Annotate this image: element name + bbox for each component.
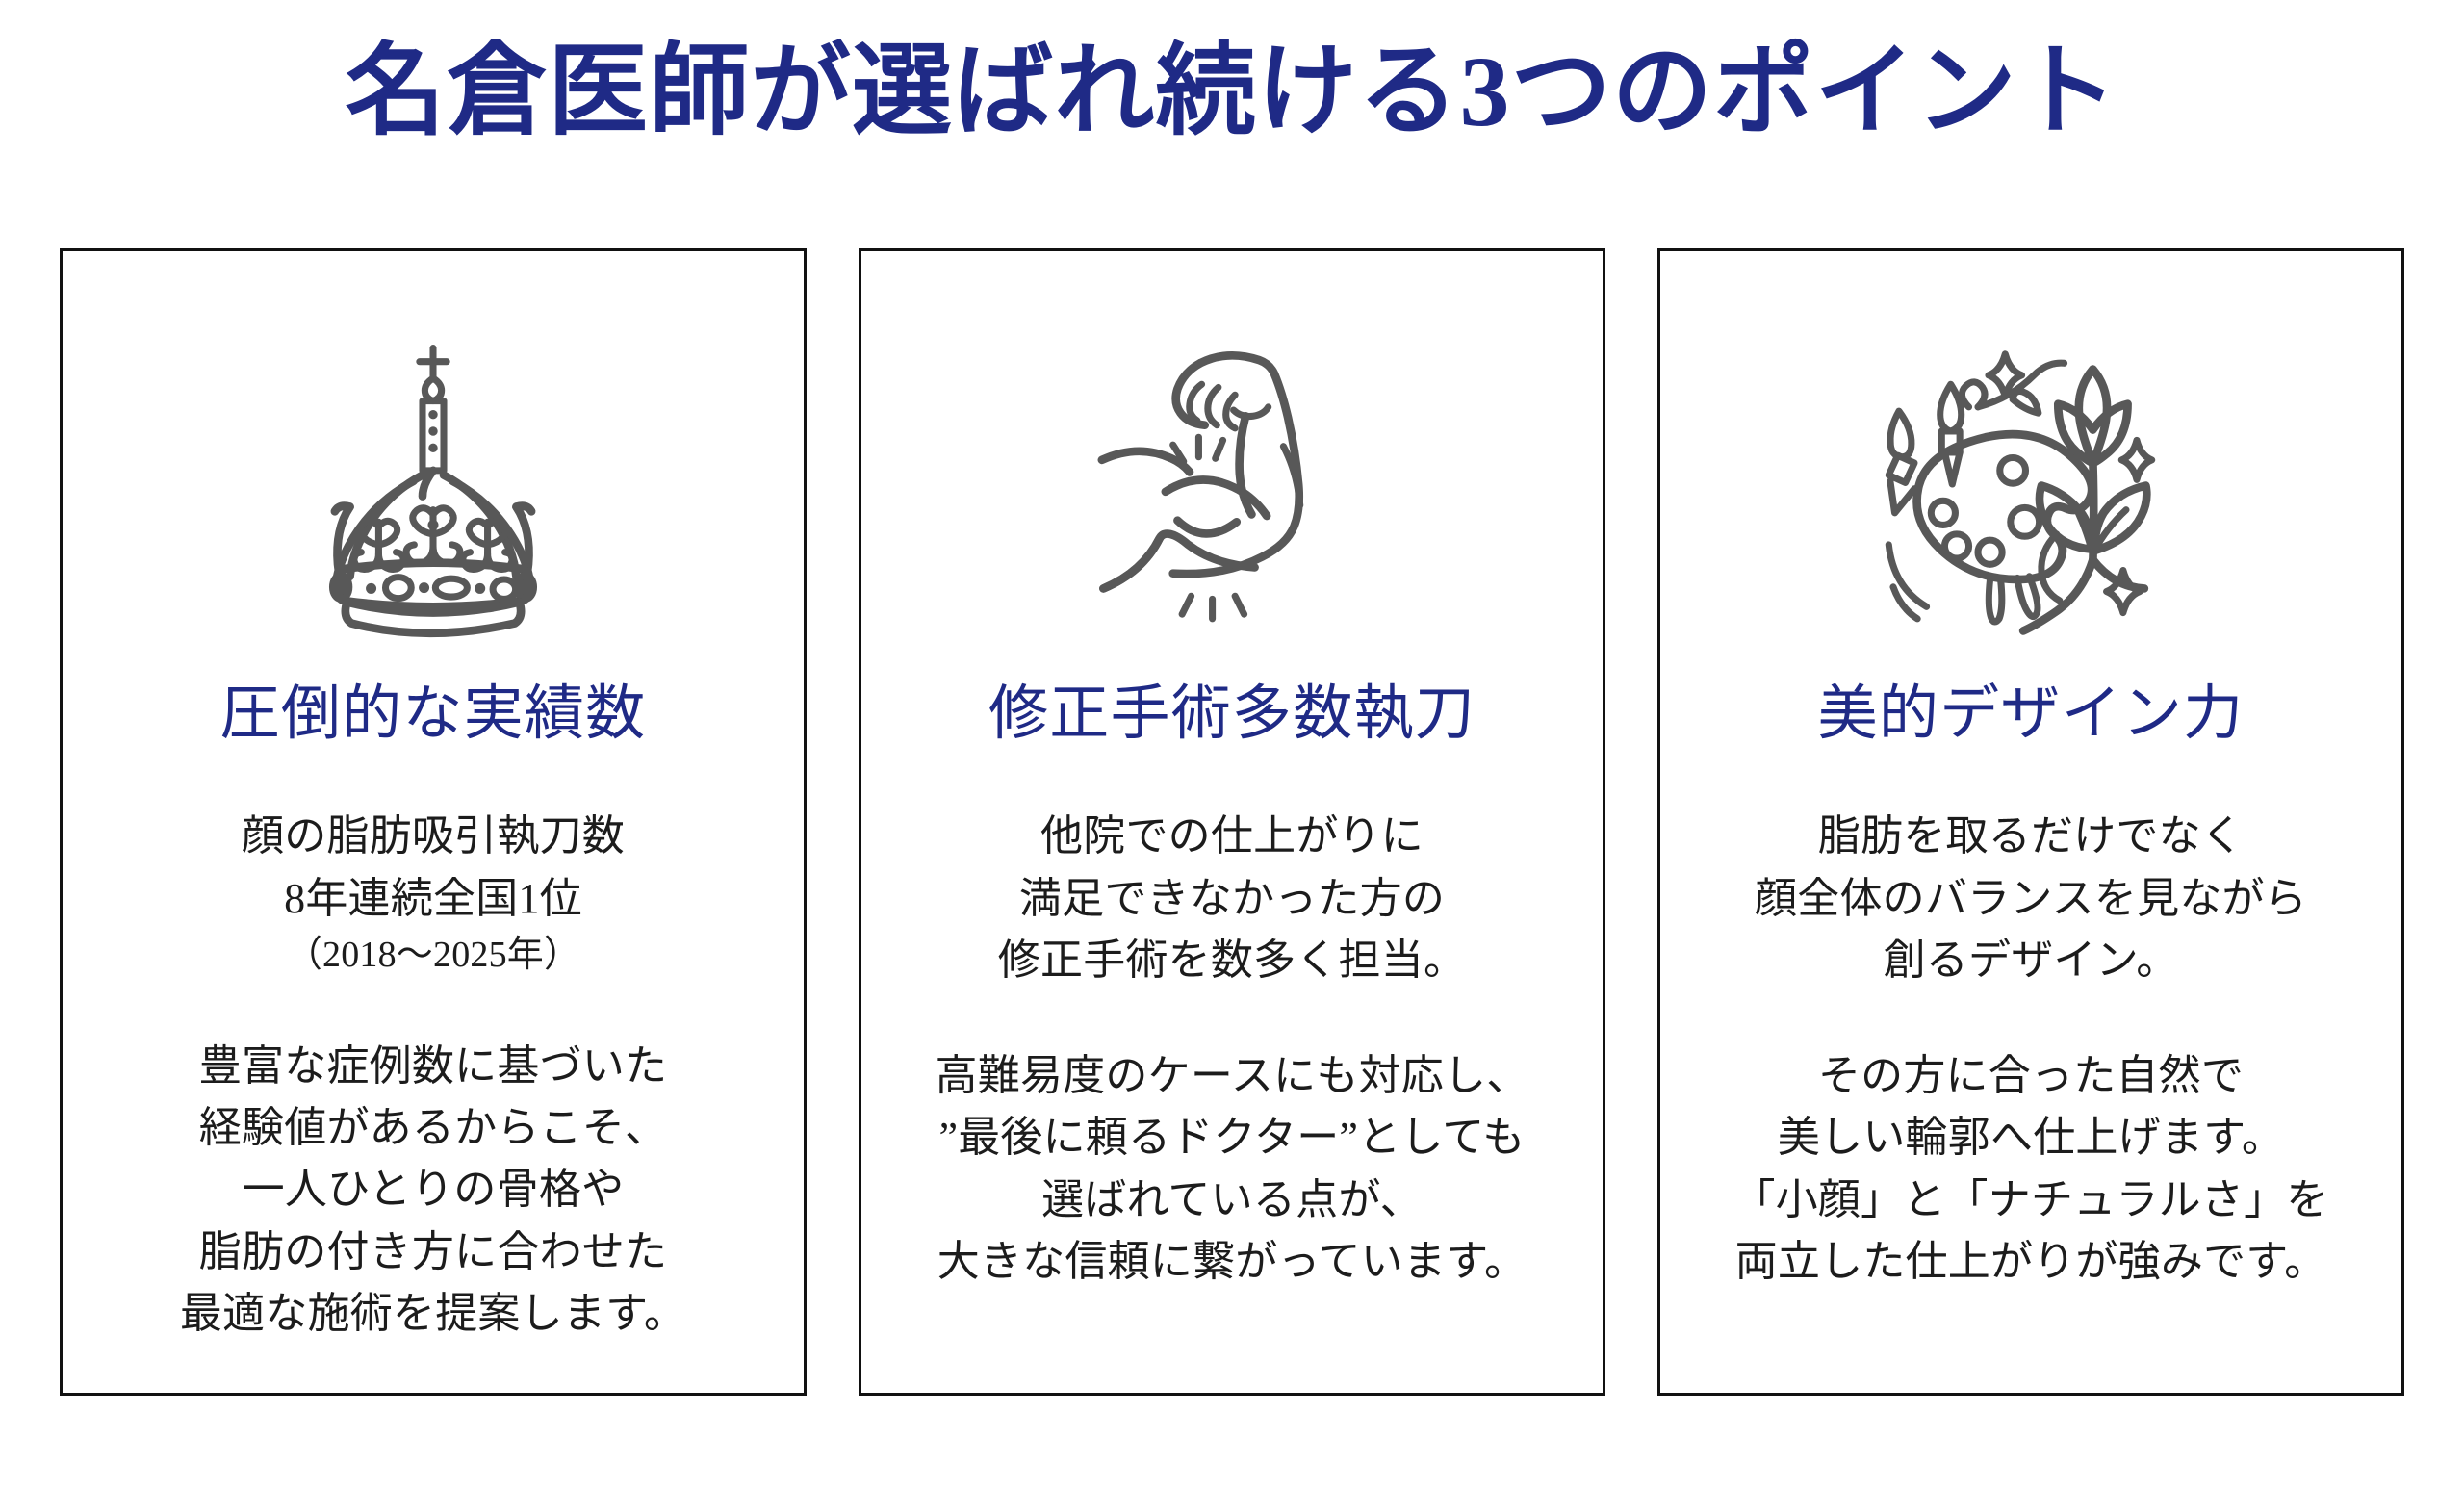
- card-detail-1: 豊富な症例数に基づいた 経験値があるからこそ、 一人ひとりの骨格や 脂肪の付き方…: [180, 1036, 686, 1345]
- infographic-page: 名倉医師が選ばれ続ける3つのポイント: [0, 0, 2464, 1490]
- card-heading-2: 修正手術多数執刀: [988, 679, 1476, 750]
- card-lead-1: 顔の脂肪吸引執刀数 8年連続全国1位: [242, 806, 625, 929]
- card-heading-3: 美的デザイン力: [1818, 679, 2245, 750]
- card-detail-3: その方に合った自然で 美しい輪郭へ仕上げます。 「小顔」と「ナチュラルさ」を 両…: [1732, 1045, 2328, 1293]
- point-card-2: 修正手術多数執刀 他院での仕上がりに 満足できなかった方の 修正手術を数多く担当…: [859, 248, 1605, 1396]
- card-note-1: （2018〜2025年）: [286, 930, 580, 982]
- point-card-3: 美的デザイン力 脂肪を取るだけでなく 顔全体のバランスを見ながら 創るデザイン。…: [1657, 248, 2404, 1396]
- points-card-row: 圧倒的な実績数 顔の脂肪吸引執刀数 8年連続全国1位 （2018〜2025年） …: [0, 248, 2464, 1403]
- card-body-1: 顔の脂肪吸引執刀数 8年連続全国1位 （2018〜2025年） 豊富な症例数に基…: [86, 806, 781, 1345]
- point-card-1: 圧倒的な実績数 顔の脂肪吸引執刀数 8年連続全国1位 （2018〜2025年） …: [60, 248, 807, 1396]
- page-title-container: 名倉医師が選ばれ続ける3つのポイント: [0, 0, 2464, 173]
- flexed-biceps-icon-container: [885, 295, 1579, 673]
- card-body-3: 脂肪を取るだけでなく 顔全体のバランスを見ながら 創るデザイン。 その方に合った…: [1683, 806, 2378, 1293]
- crown-icon: [274, 325, 592, 643]
- card-heading-1: 圧倒的な実績数: [220, 679, 647, 750]
- card-body-2: 他院での仕上がりに 満足できなかった方の 修正手術を数多く担当。 高難易度のケー…: [885, 806, 1579, 1293]
- page-title: 名倉医師が選ばれ続ける3つのポイント: [346, 37, 2118, 148]
- flexed-biceps-icon: [1073, 325, 1391, 643]
- art-palette-icon: [1872, 325, 2190, 643]
- card-lead-3: 脂肪を取るだけでなく 顔全体のバランスを見ながら 創るデザイン。: [1755, 806, 2307, 991]
- art-palette-icon-container: [1683, 295, 2378, 673]
- card-detail-2: 高難易度のケースにも対応し、 ”最後に頼るドクター”としても 選ばれている点が、…: [936, 1045, 1529, 1293]
- card-lead-2: 他院での仕上がりに 満足できなかった方の 修正手術を数多く担当。: [998, 806, 1466, 991]
- crown-icon-container: [86, 295, 781, 673]
